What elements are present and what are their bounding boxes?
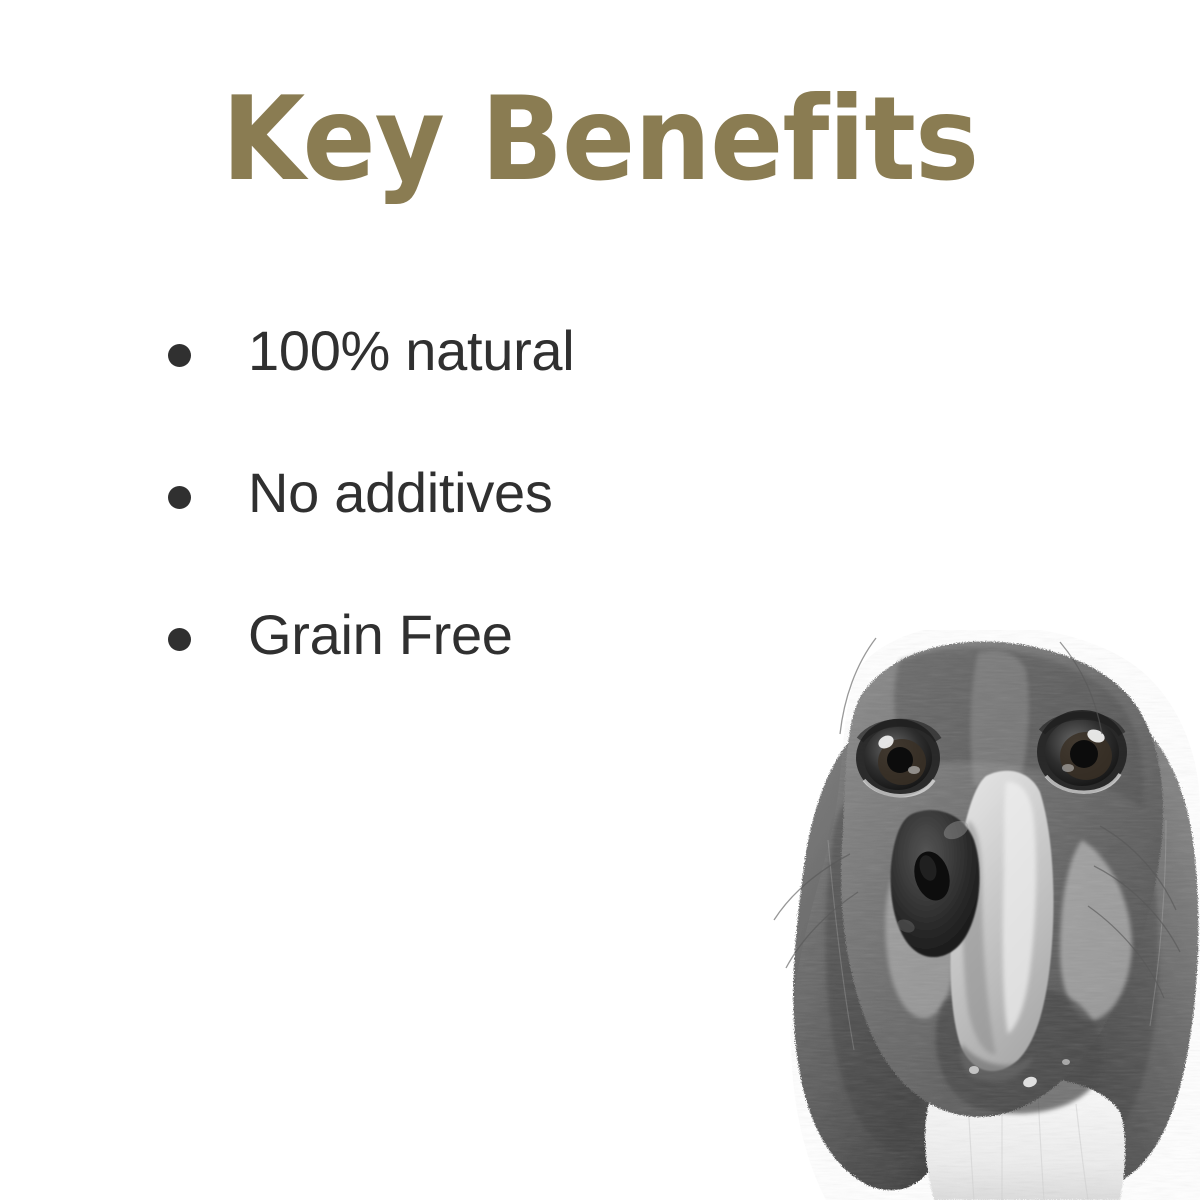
dog-chin-detail: [969, 1059, 1070, 1089]
page-title: Key Benefits: [42, 82, 1158, 198]
dog-right-eye: [1037, 710, 1127, 794]
key-benefits-card: Key Benefits 100% natural No additives G…: [0, 0, 1200, 1200]
dog-left-eye: [856, 719, 940, 797]
dog-nose: [891, 810, 980, 957]
list-item: 100% natural: [168, 318, 808, 460]
bullet-dot-icon: [168, 486, 191, 509]
benefit-label: 100% natural: [248, 318, 808, 384]
list-item: Grain Free: [168, 602, 808, 744]
dog-chest: [925, 1076, 1125, 1200]
dog-left-ear: [793, 732, 947, 1190]
benefit-label: Grain Free: [248, 602, 808, 668]
bullet-dot-icon: [168, 628, 191, 651]
benefits-list: 100% natural No additives Grain Free: [168, 318, 808, 744]
dog-right-ear: [1056, 705, 1198, 1187]
bullet-dot-icon: [168, 344, 191, 367]
list-item: No additives: [168, 460, 808, 602]
dog-snout: [950, 771, 1053, 1082]
benefit-label: No additives: [248, 460, 808, 526]
dog-whiskers: [774, 638, 1180, 998]
